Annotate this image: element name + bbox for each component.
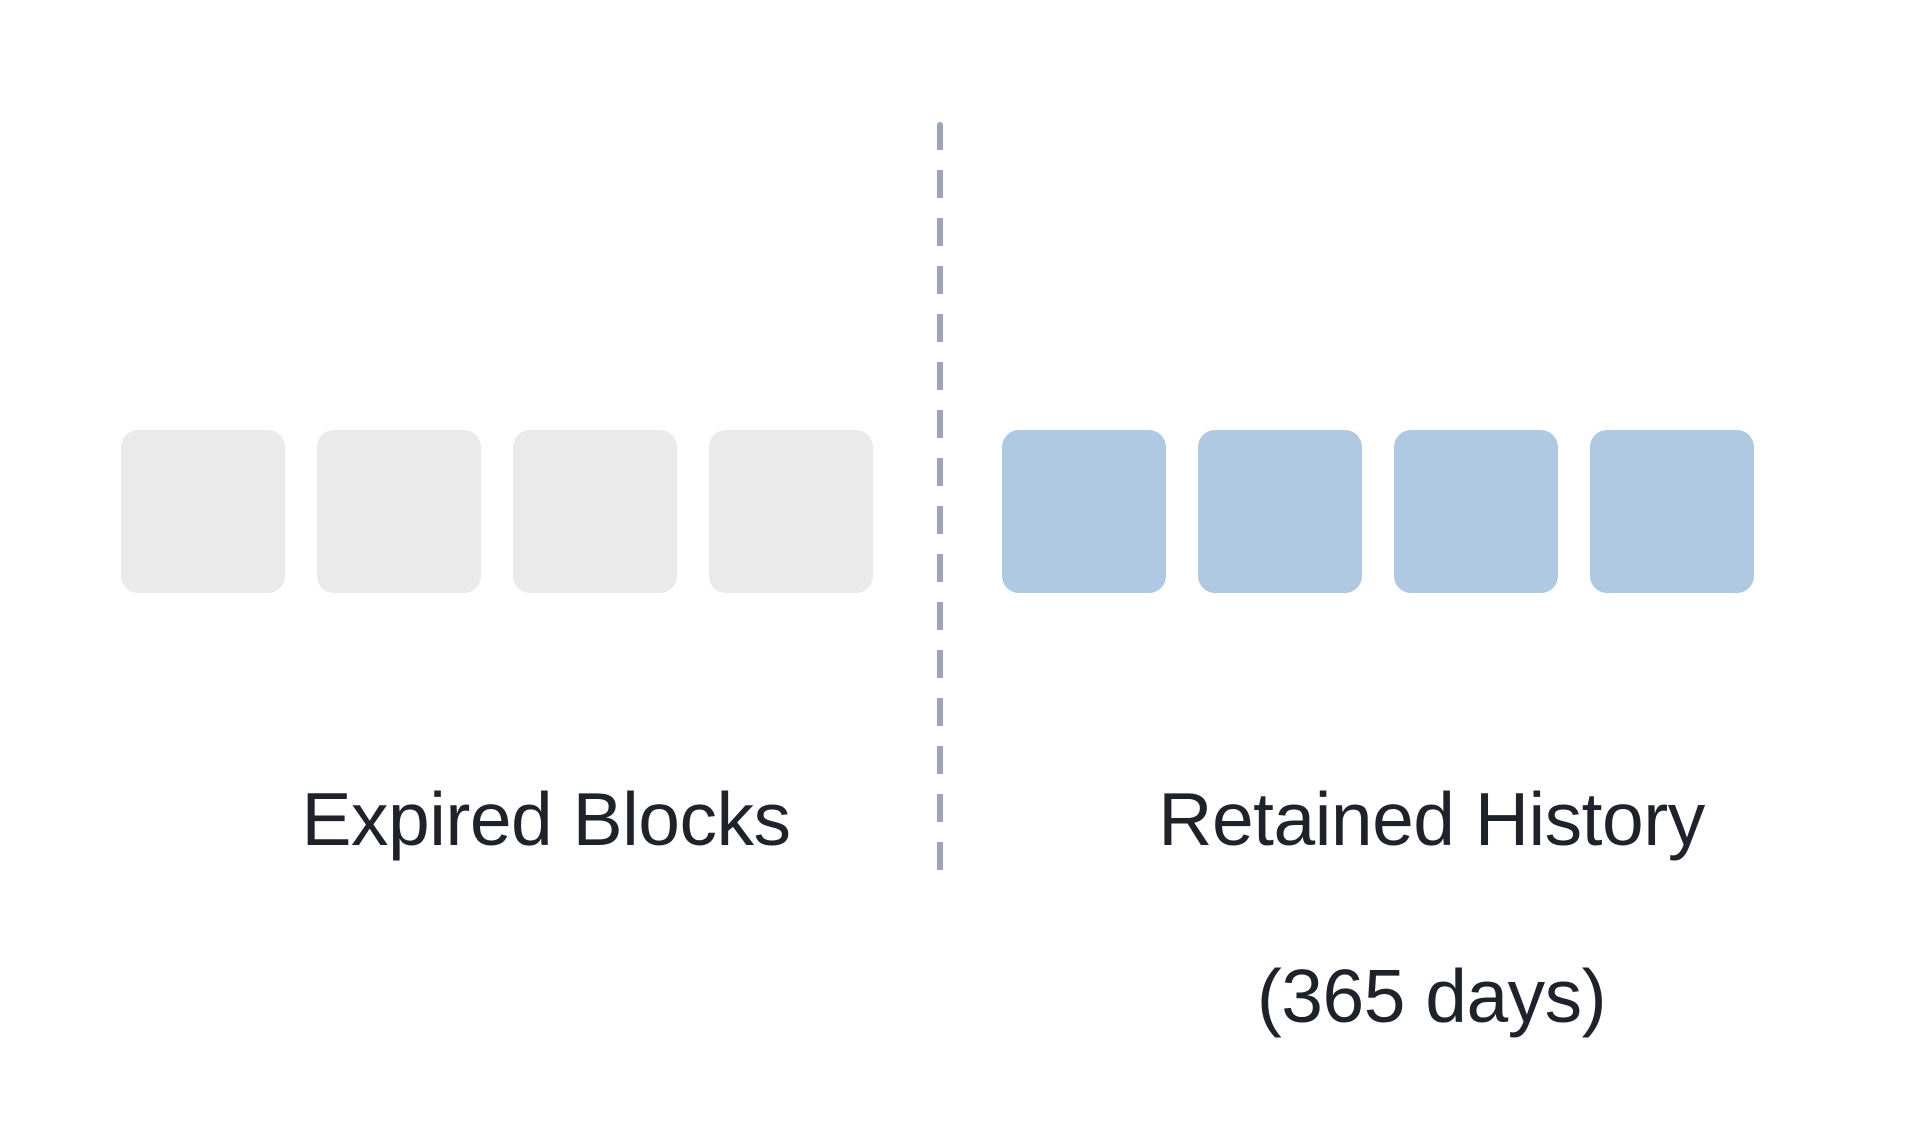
block-expired-2 <box>317 430 481 593</box>
block-retained-4 <box>1590 430 1754 593</box>
block-retained-2 <box>1198 430 1362 593</box>
retained-history-label-line-2: (365 days) <box>943 952 1920 1041</box>
panel-expired-blocks: Expired Blocks <box>0 0 937 1080</box>
block-expired-1 <box>121 430 285 593</box>
diagram-canvas: Expired Blocks Retained History (365 day… <box>0 0 1920 1080</box>
block-expired-4 <box>709 430 873 593</box>
expired-blocks-row <box>121 430 873 593</box>
retained-blocks-row <box>1002 430 1754 593</box>
block-expired-3 <box>513 430 677 593</box>
block-retained-1 <box>1002 430 1166 593</box>
retained-history-label: Retained History (365 days) <box>943 686 1920 1129</box>
block-retained-3 <box>1394 430 1558 593</box>
panel-retained-history: Retained History (365 days) <box>943 0 1920 1080</box>
retained-history-label-line-1: Retained History <box>943 775 1920 864</box>
